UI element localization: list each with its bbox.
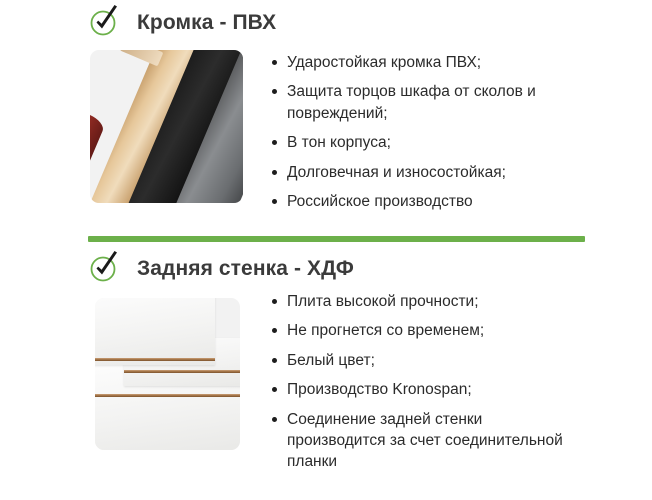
list-item: В тон корпуса; — [272, 132, 577, 153]
section-body-row: Плита высокой прочности; Не прогнется со… — [0, 290, 652, 473]
hdf-back-panel-photo — [95, 298, 240, 450]
list-item: Долговечная и износостойкая; — [272, 162, 577, 183]
feature-list-page: Кромка - ПВХ — [0, 0, 652, 500]
check-circle-icon — [88, 253, 118, 283]
feature-list-hdf: Плита высокой прочности; Не прогнется со… — [272, 291, 577, 473]
section-body-row: Ударостойкая кромка ПВХ; Защита торцов ш… — [0, 44, 652, 212]
check-circle-icon — [88, 7, 118, 37]
photo-inner — [95, 298, 240, 450]
page-title: Задняя стенка - ХДФ — [137, 258, 354, 279]
hdf-panel-edge — [95, 394, 240, 397]
page-title: Кромка - ПВХ — [137, 12, 276, 33]
list-item: Производство Kronospan; — [272, 379, 577, 400]
hdf-panel-edge — [124, 370, 240, 373]
list-item: Ударостойкая кромка ПВХ; — [272, 52, 577, 73]
hdf-panel-edge — [95, 358, 215, 361]
section-heading-row: Кромка - ПВХ — [0, 0, 652, 44]
list-item: Соединение задней стенки производится за… — [272, 409, 577, 473]
section-divider — [88, 236, 585, 242]
pvc-edge-banding-photo — [90, 50, 243, 203]
list-item: Российское производство — [272, 191, 577, 212]
section-pvc-edge: Кромка - ПВХ — [0, 0, 652, 212]
photo-inner — [90, 50, 243, 203]
list-item: Плита высокой прочности; — [272, 291, 577, 312]
section-heading-row: Задняя стенка - ХДФ — [0, 246, 652, 290]
list-item: Не прогнется со временем; — [272, 320, 577, 341]
hdf-panel-top — [95, 298, 215, 365]
list-item: Защита торцов шкафа от сколов и поврежде… — [272, 81, 577, 124]
feature-list-pvc: Ударостойкая кромка ПВХ; Защита торцов ш… — [272, 52, 577, 212]
section-back-panel-hdf: Задняя стенка - ХДФ — [0, 246, 652, 473]
list-item: Белый цвет; — [272, 350, 577, 371]
